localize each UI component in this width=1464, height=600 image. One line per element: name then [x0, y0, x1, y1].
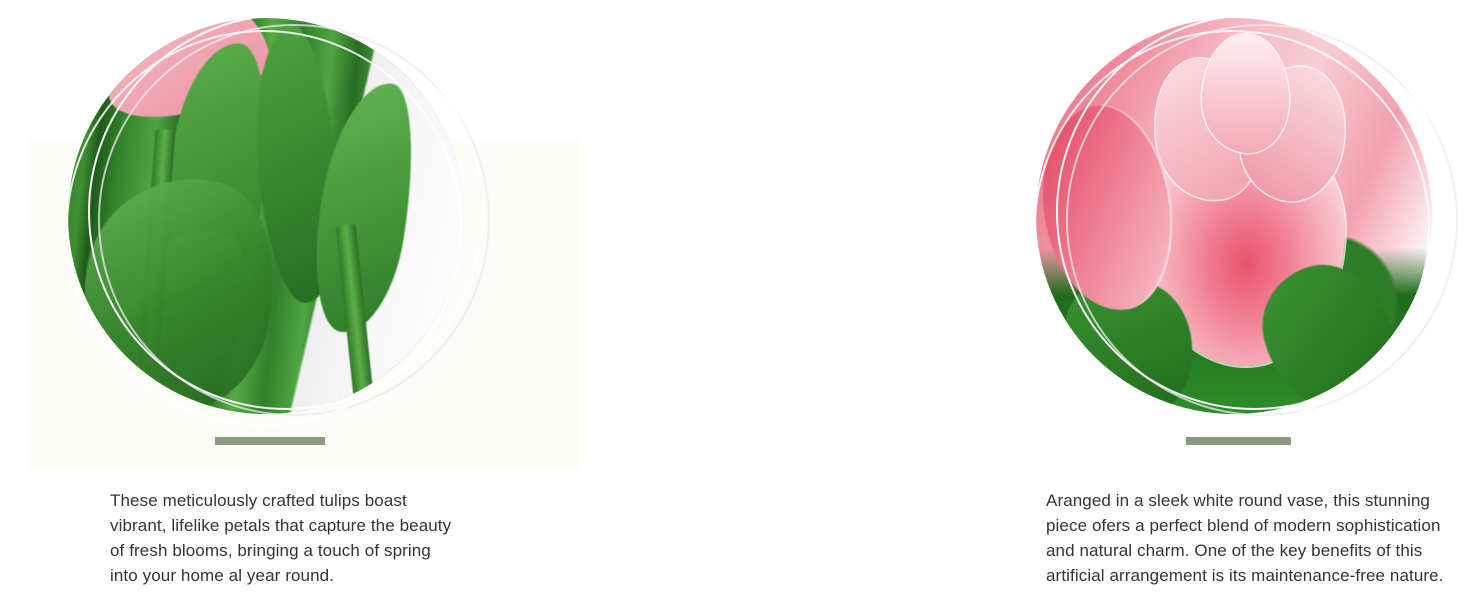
panel-2-accent-divider [1186, 437, 1291, 445]
leaf-shape [1042, 262, 1212, 414]
panel-1-caption: These meticulously crafted tulips boast … [110, 488, 460, 588]
green-tulip-leaves-image [68, 18, 464, 414]
panel-2-image-circle [1036, 18, 1432, 414]
panel-1-image-circle [68, 18, 464, 414]
panel-2-photo [1036, 18, 1432, 414]
feature-panel-1: These meticulously crafted tulips boast … [0, 0, 488, 600]
panel-1-accent-divider [215, 437, 325, 445]
feature-panels-board: These meticulously crafted tulips boast … [0, 0, 1464, 600]
feature-panel-2: Aranged in a sleek white round vase, thi… [488, 0, 976, 600]
stem-shape [139, 128, 175, 366]
leaf-shape [1249, 250, 1408, 414]
pink-tulip-bloom-image [1036, 18, 1432, 414]
leaf-shape [94, 208, 272, 414]
petal-shape [1202, 34, 1289, 153]
panel-1-photo [68, 18, 464, 414]
panel-2-caption: Aranged in a sleek white round vase, thi… [1046, 488, 1446, 588]
